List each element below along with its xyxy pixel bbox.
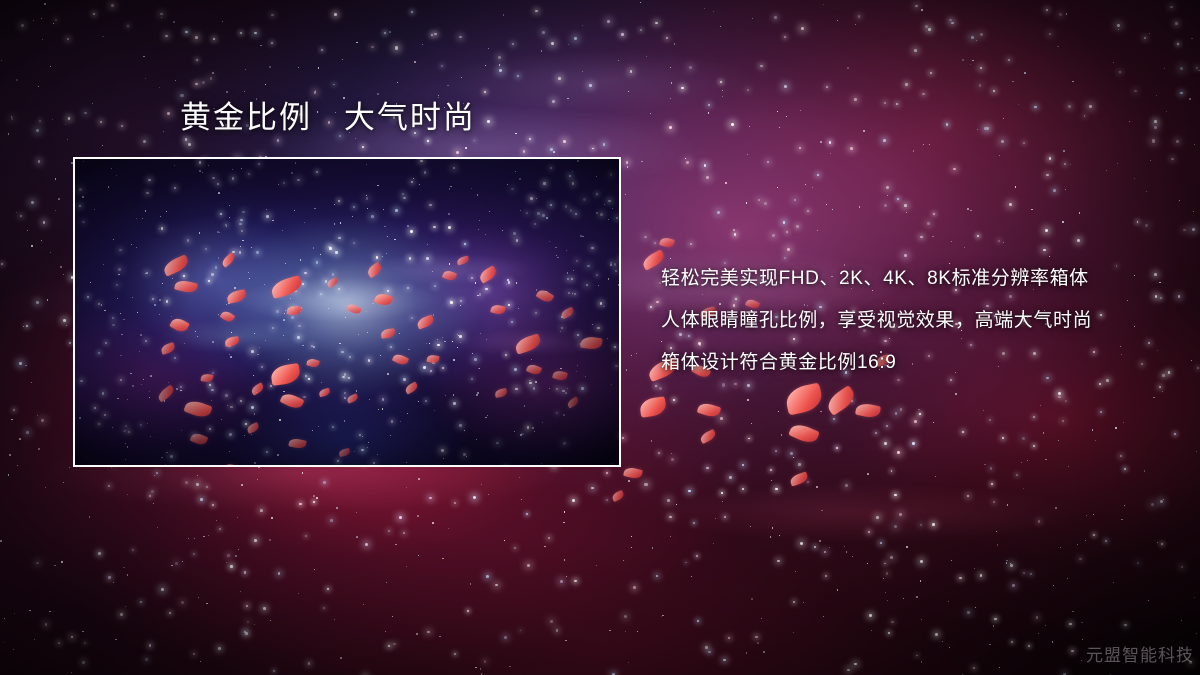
star (816, 486, 818, 488)
star (1129, 121, 1130, 122)
star (299, 503, 301, 505)
star (918, 409, 920, 411)
star (894, 494, 896, 496)
star (868, 531, 870, 533)
star (19, 362, 22, 365)
star (1160, 297, 1162, 299)
star (999, 155, 1000, 156)
star (1154, 126, 1157, 129)
star (1134, 178, 1135, 179)
star (713, 543, 714, 544)
star (1156, 95, 1157, 96)
star (781, 434, 782, 435)
star (4, 618, 5, 619)
star (706, 176, 709, 179)
star (1175, 22, 1178, 25)
star (622, 437, 624, 439)
star (43, 221, 46, 224)
star (1191, 38, 1193, 40)
star (188, 538, 189, 539)
star (998, 240, 1000, 242)
star (671, 458, 674, 461)
star (1001, 140, 1004, 143)
star (670, 98, 671, 99)
star (1120, 455, 1122, 457)
star (1084, 115, 1086, 117)
star (1049, 157, 1051, 159)
star (298, 67, 299, 68)
star (1196, 67, 1198, 69)
star (314, 569, 316, 571)
star (951, 22, 954, 25)
star (115, 639, 116, 640)
star (157, 527, 158, 528)
star (1157, 350, 1158, 351)
star (845, 484, 848, 487)
star (193, 653, 195, 655)
star (25, 365, 27, 367)
star (751, 423, 752, 424)
star (271, 517, 272, 518)
star (916, 596, 918, 598)
star (488, 48, 489, 49)
star (459, 36, 462, 39)
star (592, 148, 594, 150)
star (1180, 92, 1182, 94)
star (800, 542, 803, 545)
star (855, 24, 856, 25)
star (393, 643, 395, 645)
star (38, 160, 41, 163)
star (202, 81, 205, 84)
star (480, 668, 482, 670)
star (321, 49, 323, 51)
star (772, 527, 774, 529)
star (34, 639, 35, 640)
star (875, 432, 877, 434)
star (314, 91, 317, 94)
star (916, 655, 918, 657)
star (1115, 427, 1117, 429)
star (786, 231, 788, 233)
star (454, 653, 456, 655)
star (627, 166, 628, 167)
star (38, 86, 39, 87)
star (1121, 354, 1122, 355)
star (1086, 515, 1087, 516)
star (1149, 33, 1150, 34)
star (723, 659, 726, 662)
star (993, 625, 994, 626)
star (499, 69, 502, 72)
star (1117, 24, 1120, 27)
star (750, 526, 751, 527)
star (757, 642, 759, 644)
star (431, 34, 433, 36)
star (1119, 71, 1121, 73)
star (1127, 300, 1128, 301)
star (160, 13, 163, 16)
star (953, 168, 956, 171)
star (100, 121, 102, 123)
star (777, 187, 778, 188)
star (1171, 158, 1173, 160)
star (98, 552, 101, 555)
star (1170, 6, 1172, 8)
star (1117, 163, 1118, 164)
star (821, 510, 823, 512)
star (206, 486, 208, 488)
star (905, 83, 907, 85)
star (1162, 374, 1165, 377)
star (717, 211, 720, 214)
inner-vignette (75, 159, 619, 465)
star (713, 11, 714, 12)
star (185, 31, 187, 33)
star (180, 94, 183, 97)
star (667, 499, 670, 502)
star (658, 452, 660, 454)
star (807, 210, 809, 212)
star (384, 32, 386, 34)
star (1055, 507, 1057, 509)
star (305, 535, 307, 537)
star (1062, 420, 1065, 423)
star (439, 636, 441, 638)
star (973, 667, 976, 670)
star (920, 236, 922, 238)
star (68, 117, 71, 120)
star (645, 403, 646, 404)
star (685, 158, 686, 159)
star (270, 620, 271, 621)
star (1012, 584, 1015, 587)
star (237, 517, 238, 518)
star (123, 567, 124, 568)
star (356, 536, 358, 538)
star (1099, 383, 1101, 385)
star (1062, 221, 1063, 222)
star (526, 513, 528, 515)
star (1106, 379, 1109, 382)
star (830, 153, 831, 154)
star (837, 20, 838, 21)
star (461, 77, 462, 78)
star (238, 549, 239, 550)
star (1163, 499, 1164, 500)
star (66, 325, 67, 326)
star (778, 411, 779, 412)
star (733, 229, 735, 231)
star (582, 71, 583, 72)
star (69, 342, 71, 344)
star (722, 96, 723, 97)
star (260, 45, 262, 47)
star (213, 38, 215, 40)
star (708, 104, 710, 106)
star (705, 646, 708, 649)
body-text-line-2: 人体眼睛瞳孔比例，享受视觉效果，高端大气时尚 (661, 300, 1092, 342)
star (761, 618, 762, 619)
star (1058, 392, 1061, 395)
star (53, 23, 54, 24)
star (235, 555, 237, 557)
star (747, 399, 749, 401)
star (1152, 139, 1155, 142)
star (523, 150, 525, 152)
star (1045, 229, 1048, 232)
star (315, 90, 316, 91)
star (826, 204, 827, 205)
star (200, 661, 201, 662)
star (89, 516, 90, 517)
star (195, 36, 198, 39)
star (442, 558, 443, 559)
star (784, 36, 786, 38)
star (896, 103, 898, 105)
star (13, 409, 15, 411)
star (661, 616, 662, 617)
watermark: 元盟智能科技 (1086, 641, 1194, 666)
star (273, 670, 275, 672)
star (770, 536, 772, 538)
star (1141, 363, 1144, 366)
star (27, 230, 28, 231)
flower-petal (611, 490, 625, 502)
star (606, 499, 608, 501)
star (488, 494, 489, 495)
star (254, 32, 257, 35)
star (801, 27, 804, 30)
star (923, 144, 924, 145)
star (977, 235, 979, 237)
star (803, 433, 804, 434)
star (913, 150, 915, 152)
star (650, 306, 652, 308)
star (1, 60, 2, 61)
star (1046, 9, 1048, 11)
star (302, 472, 304, 474)
star (722, 90, 723, 91)
star (495, 584, 498, 587)
star (1052, 641, 1053, 642)
star (777, 111, 778, 112)
star (52, 119, 53, 120)
star (145, 658, 148, 661)
star (519, 477, 520, 478)
star (734, 233, 736, 235)
star (564, 511, 565, 512)
star (406, 487, 407, 488)
star (1100, 411, 1102, 413)
star (1015, 186, 1016, 187)
star (120, 613, 123, 616)
star (1154, 120, 1157, 123)
star (706, 467, 708, 469)
star (1113, 582, 1114, 583)
star (245, 632, 248, 635)
star (833, 418, 835, 420)
star (1036, 616, 1039, 619)
star (316, 497, 318, 499)
star (196, 59, 198, 61)
star (932, 523, 935, 526)
star (689, 66, 692, 69)
star (955, 393, 957, 395)
star (676, 504, 677, 505)
star (1157, 542, 1158, 543)
star (58, 198, 60, 200)
star (182, 561, 183, 562)
star (1040, 405, 1041, 406)
star (990, 467, 992, 469)
star (165, 35, 168, 38)
star (1194, 144, 1196, 146)
star (964, 247, 965, 248)
star (336, 507, 338, 509)
star (799, 147, 802, 150)
star (246, 605, 249, 608)
star (260, 509, 263, 512)
star (529, 138, 531, 140)
star (1123, 422, 1124, 423)
star (967, 495, 969, 497)
star (1198, 70, 1200, 72)
star (803, 602, 804, 603)
star (399, 516, 402, 519)
star (102, 36, 103, 37)
star (156, 472, 158, 474)
star (1065, 189, 1066, 190)
star (1134, 90, 1137, 93)
star (1181, 566, 1184, 569)
star (41, 419, 44, 422)
star (1006, 560, 1008, 562)
star (110, 466, 111, 467)
star (392, 616, 393, 617)
flower-petal (788, 421, 820, 446)
star (551, 42, 554, 45)
star (36, 301, 39, 304)
star (697, 620, 699, 622)
star (92, 103, 93, 104)
star (203, 536, 204, 537)
star (93, 13, 95, 15)
star (486, 575, 489, 578)
star (1085, 540, 1087, 542)
star (1006, 562, 1008, 564)
star (671, 453, 672, 454)
star (847, 669, 850, 672)
star (194, 538, 195, 539)
star (395, 544, 397, 546)
star (1124, 624, 1126, 626)
star (377, 93, 379, 95)
star (794, 199, 797, 202)
star (82, 631, 83, 632)
star (904, 204, 907, 207)
star (774, 16, 776, 18)
star (438, 95, 439, 96)
star (1077, 544, 1078, 545)
star (63, 319, 66, 322)
star (388, 530, 390, 532)
star (620, 435, 621, 437)
star (13, 649, 14, 650)
star (1124, 505, 1125, 506)
flower-petal (789, 471, 809, 486)
star (218, 647, 221, 650)
star (620, 316, 621, 318)
star (298, 593, 299, 594)
star (206, 603, 208, 605)
star (919, 413, 921, 415)
star (1144, 470, 1146, 472)
star (725, 182, 726, 183)
star (708, 651, 711, 654)
star (626, 161, 629, 164)
star (487, 120, 490, 123)
star (624, 615, 627, 618)
star (1065, 400, 1067, 402)
star (993, 501, 995, 503)
star (819, 540, 820, 541)
star (959, 577, 961, 579)
star (163, 131, 164, 132)
star (395, 46, 398, 49)
star (991, 483, 993, 485)
star (17, 465, 18, 466)
star (411, 11, 413, 13)
star (805, 184, 806, 185)
star (388, 645, 391, 648)
star (844, 546, 845, 547)
star (1072, 81, 1073, 82)
star (21, 24, 24, 27)
star (891, 470, 893, 472)
star (504, 636, 507, 639)
star (603, 143, 606, 146)
star (196, 483, 199, 486)
star (659, 387, 662, 390)
star (42, 39, 43, 40)
star (869, 614, 872, 617)
star (1034, 106, 1036, 108)
star (1154, 273, 1157, 276)
star (935, 476, 936, 477)
star (685, 562, 687, 564)
star (61, 561, 63, 563)
star (1023, 142, 1025, 144)
star (219, 528, 221, 530)
star (195, 83, 197, 85)
star (41, 240, 42, 241)
star (971, 36, 974, 39)
star (886, 572, 889, 575)
star (386, 582, 387, 583)
star (823, 4, 824, 5)
star (589, 84, 592, 87)
star (1003, 118, 1004, 119)
star (1057, 46, 1059, 48)
star (1071, 650, 1073, 652)
star (418, 478, 420, 480)
star (820, 411, 821, 412)
star (1049, 33, 1052, 36)
star (644, 236, 647, 239)
star (897, 198, 899, 200)
star (1045, 625, 1046, 626)
